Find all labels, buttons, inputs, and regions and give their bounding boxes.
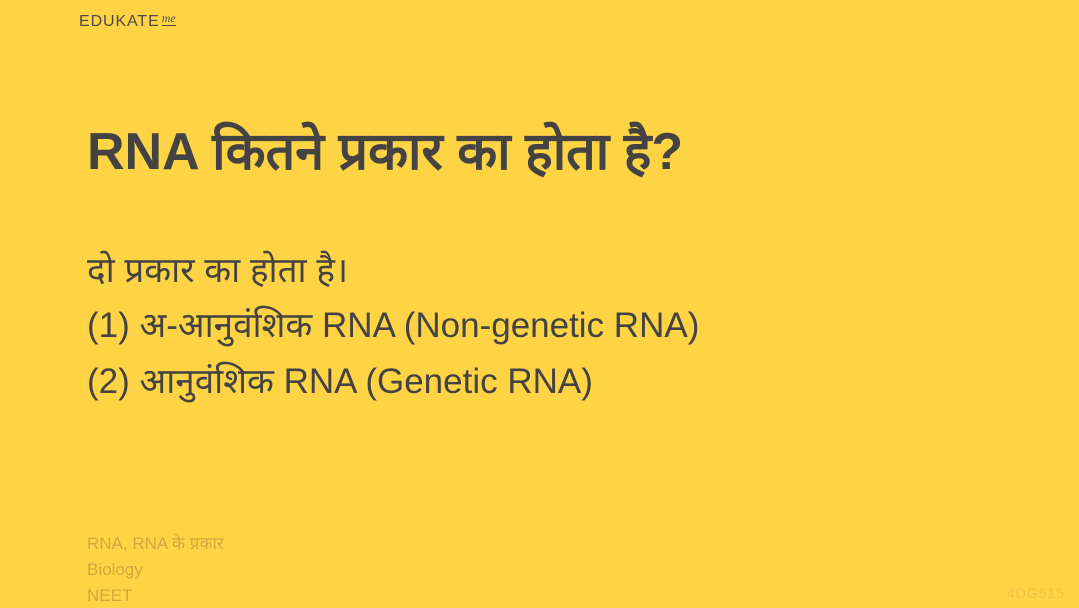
brand-name: EDUKATE [79, 14, 160, 30]
body-line-item-1: (1) अ-आनुवंशिक RNA (Non-genetic RNA) [87, 298, 1007, 353]
slide-footer: RNA, RNA के प्रकार Biology NEET [87, 531, 687, 608]
slide-body: दो प्रकार का होता है। (1) अ-आनुवंशिक RNA… [87, 243, 1007, 409]
slide-title: RNA कितने प्रकार का होता है? [87, 123, 987, 183]
body-line-intro: दो प्रकार का होता है। [87, 243, 1007, 298]
edukate-logo: EDUKATE me [79, 14, 176, 30]
footer-exam: NEET [87, 583, 687, 608]
body-line-item-2: (2) आनुवंशिक RNA (Genetic RNA) [87, 354, 1007, 409]
brand-superscript: me [162, 12, 176, 26]
footer-subject: Biology [87, 557, 687, 583]
slide: EDUKATE me RNA कितने प्रकार का होता है? … [0, 0, 1079, 607]
footer-topic: RNA, RNA के प्रकार [87, 531, 687, 557]
watermark: 4DG515 [1007, 585, 1065, 601]
